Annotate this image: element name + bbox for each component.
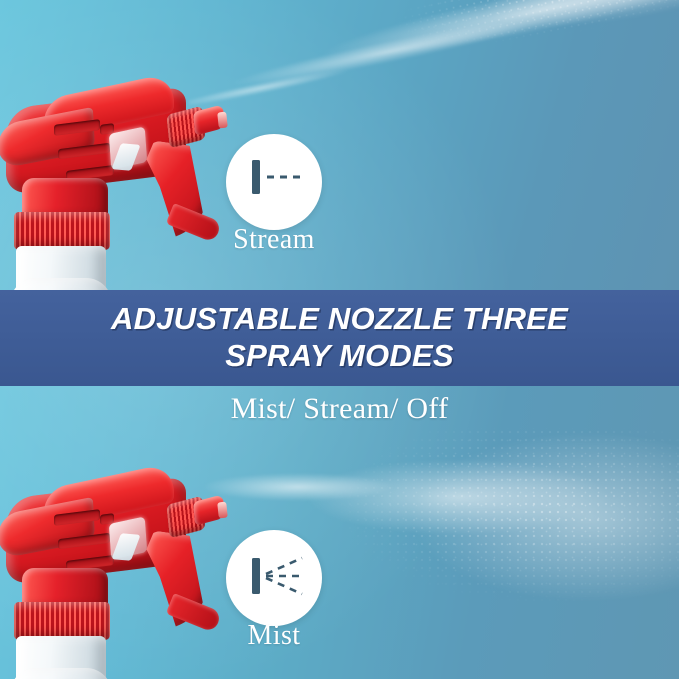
headline-banner: ADJUSTABLE NOZZLE THREE SPRAY MODES — [0, 290, 679, 386]
headline-text: ADJUSTABLE NOZZLE THREE SPRAY MODES — [111, 301, 568, 374]
sprayer-cap — [14, 602, 110, 640]
sprayer-nozzle-orifice — [217, 502, 228, 519]
spray-bottle-top — [0, 82, 242, 292]
mode-badge-stream — [226, 134, 322, 230]
stream-nozzle-icon — [226, 134, 322, 230]
sprayer-nozzle-orifice — [217, 112, 228, 129]
subtitle-text: Mist/ Stream/ Off — [0, 392, 679, 426]
bottle-body — [10, 668, 112, 679]
mist-nozzle-icon — [226, 530, 322, 626]
mode-badge-mist — [226, 530, 322, 626]
mode-label-mist: Mist — [174, 620, 374, 652]
mode-label-stream: Stream — [174, 224, 374, 256]
product-feature-image: Stream Mist ADJUSTABLE NOZZLE THREE SPRA… — [0, 0, 679, 679]
sprayer-cap — [14, 212, 110, 250]
